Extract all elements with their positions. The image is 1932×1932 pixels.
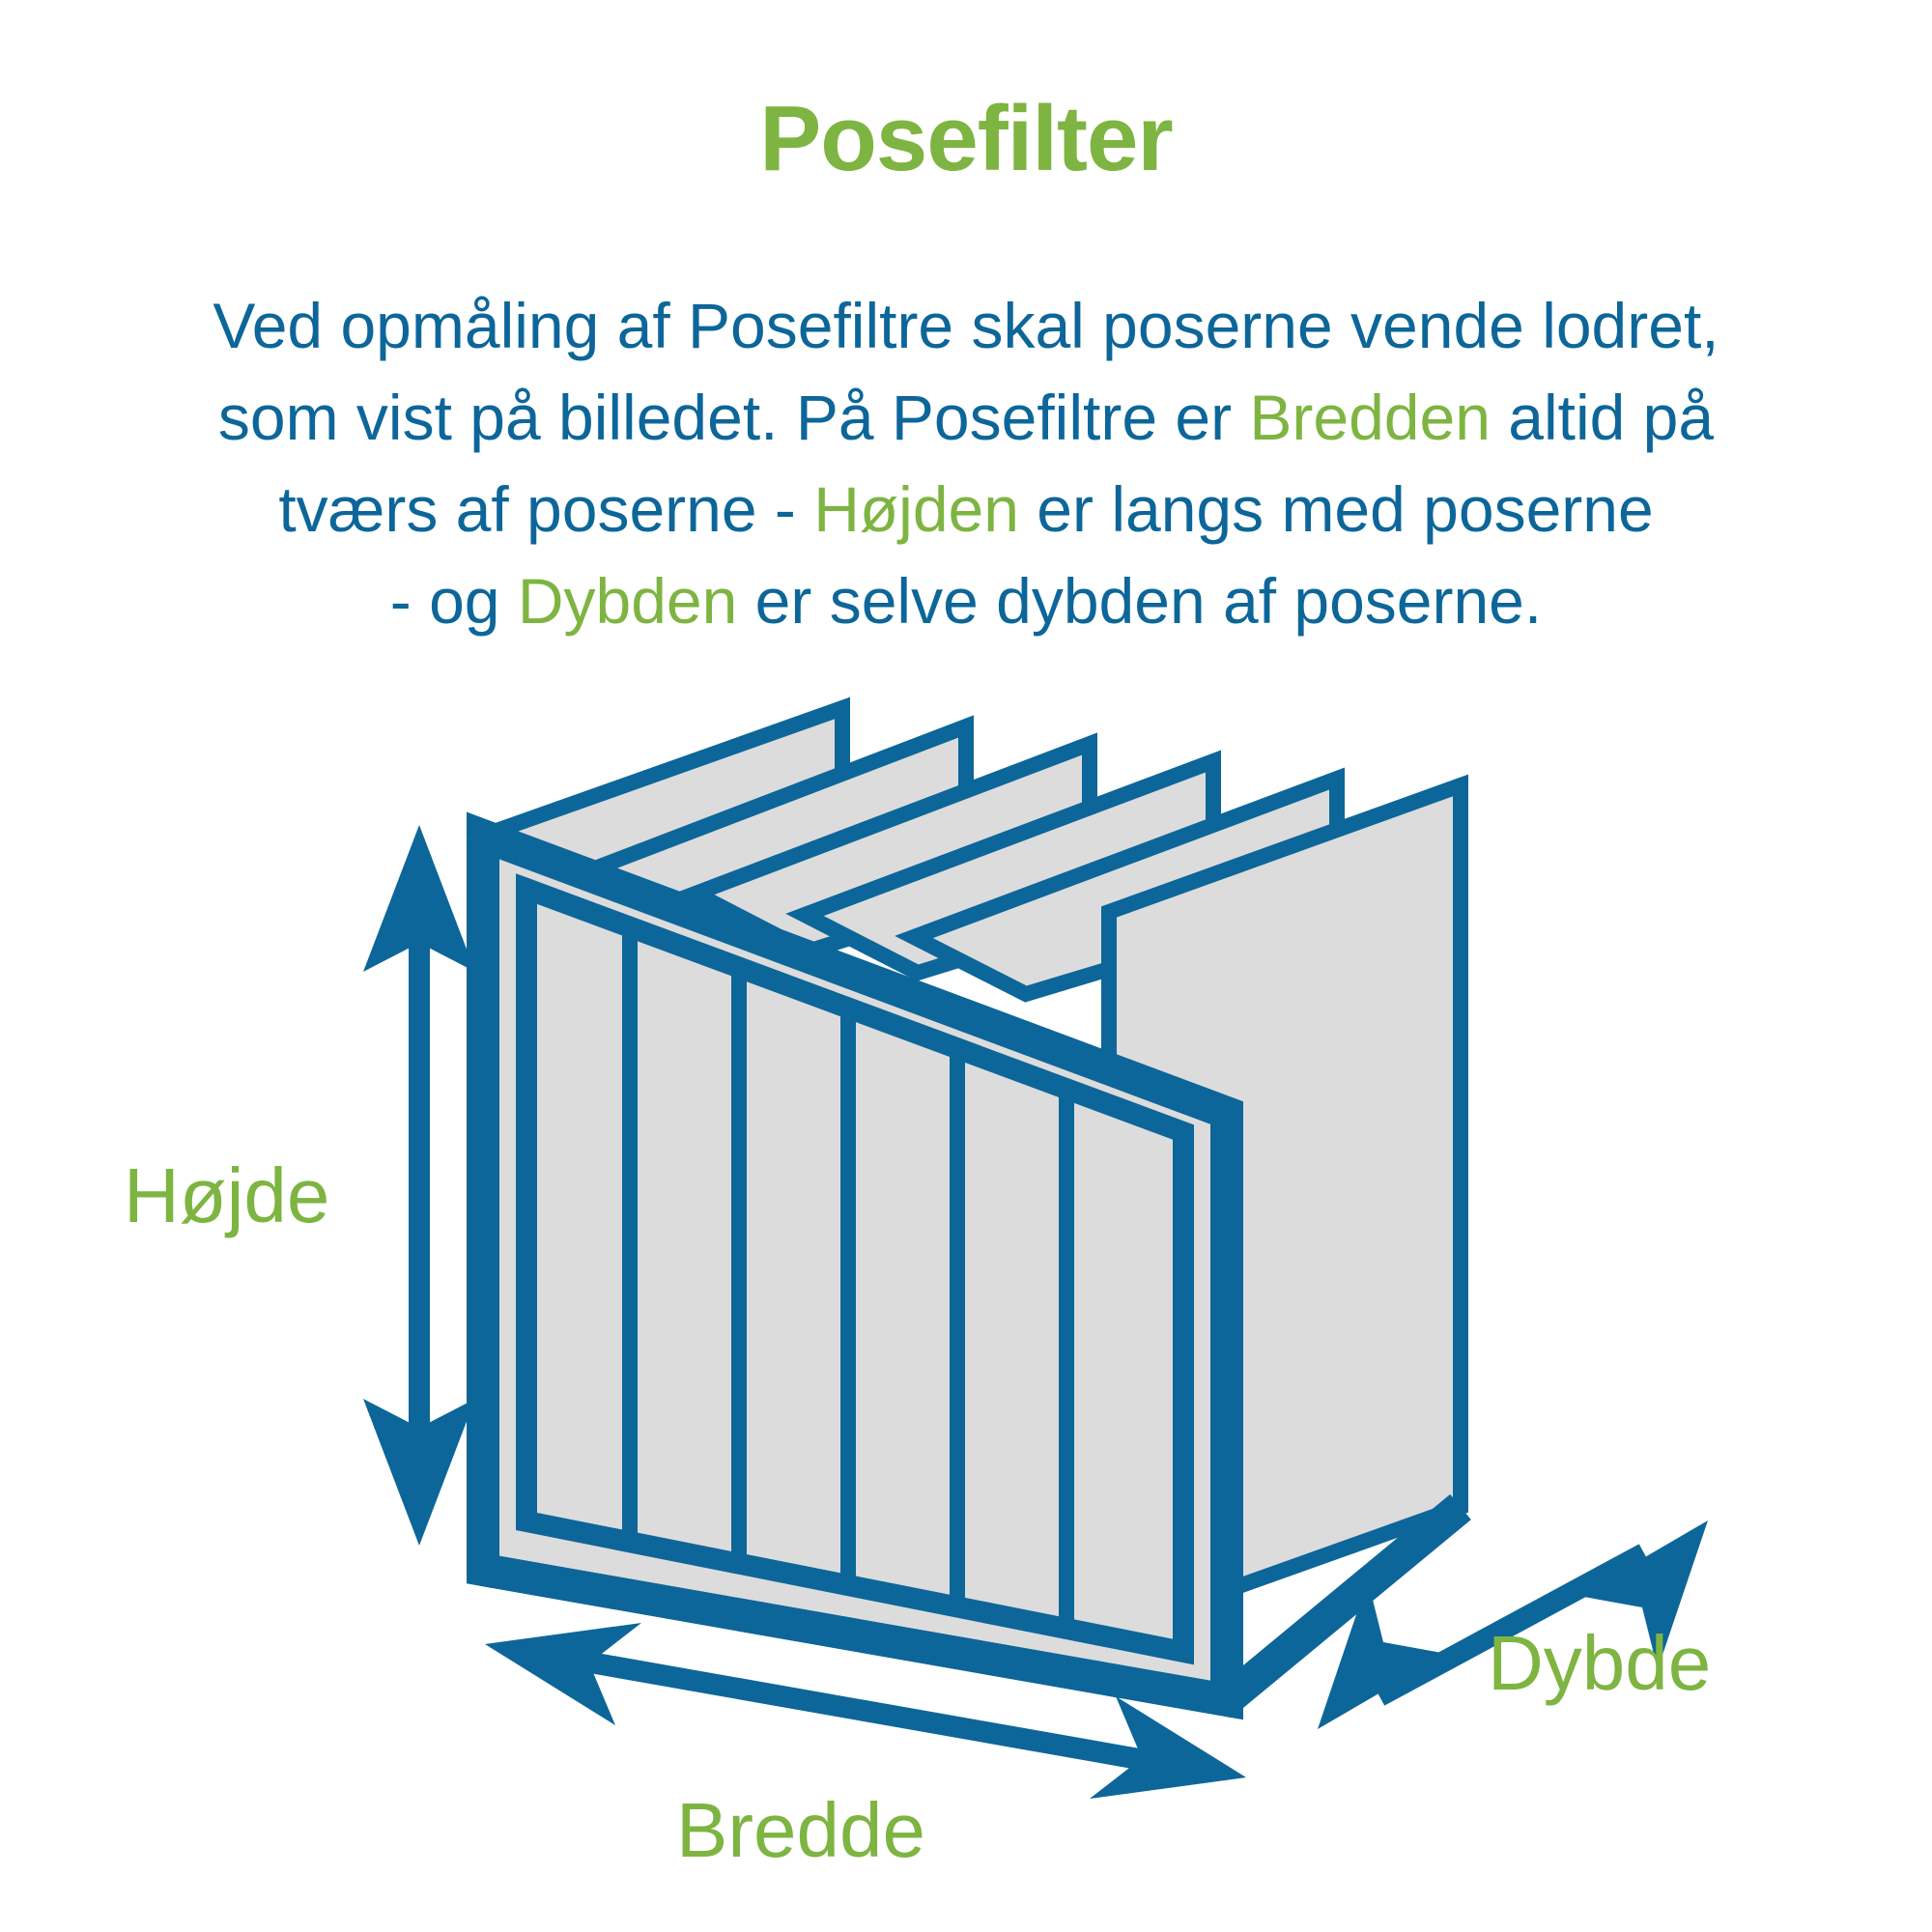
- dimension-label-depth: Dybde: [1488, 1625, 1711, 1702]
- height-arrow: [363, 825, 475, 1546]
- dimension-label-width: Bredde: [676, 1792, 925, 1869]
- poster-page: Posefilter Ved opmåling af Posefiltre sk…: [0, 0, 1932, 1932]
- dimension-label-height: Højde: [124, 1157, 329, 1235]
